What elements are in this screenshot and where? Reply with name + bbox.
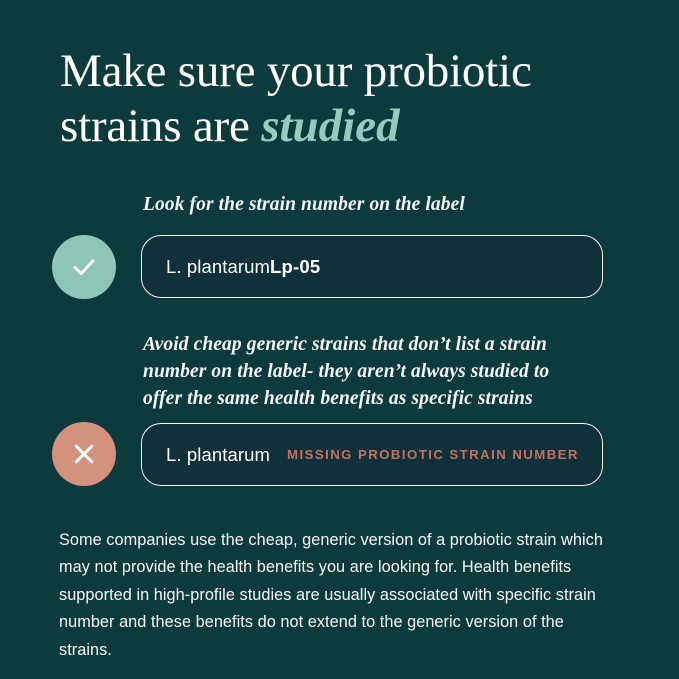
good-example-caption: Look for the strain number on the label	[143, 192, 613, 219]
bad-example-pill[interactable]: L. plantarumMISSING PROBIOTIC STRAIN NUM…	[141, 423, 603, 486]
headline-line-1: Make sure your probiotic	[60, 45, 532, 97]
bad-example-caption: Avoid cheap generic strains that don’t l…	[143, 332, 583, 413]
bad-pill-species: L. plantarum	[166, 444, 270, 466]
check-icon	[68, 251, 100, 283]
infographic-poster: Make sure your probiotic strains are stu…	[0, 0, 679, 679]
good-example-pill[interactable]: L. plantarum Lp-05	[141, 235, 603, 298]
page-title: Make sure your probiotic strains are stu…	[60, 44, 640, 153]
missing-strain-warning: MISSING PROBIOTIC STRAIN NUMBER	[287, 447, 579, 462]
cross-icon	[68, 438, 100, 470]
headline-accent-word: studied	[261, 100, 399, 152]
headline-line-2-prefix: strains are	[60, 100, 261, 152]
good-pill-strain-number: Lp-05	[270, 256, 320, 278]
good-pill-species: L. plantarum	[166, 256, 270, 278]
footer-paragraph: Some companies use the cheap, generic ve…	[59, 527, 615, 664]
cross-badge	[52, 422, 116, 486]
check-badge	[52, 235, 116, 299]
